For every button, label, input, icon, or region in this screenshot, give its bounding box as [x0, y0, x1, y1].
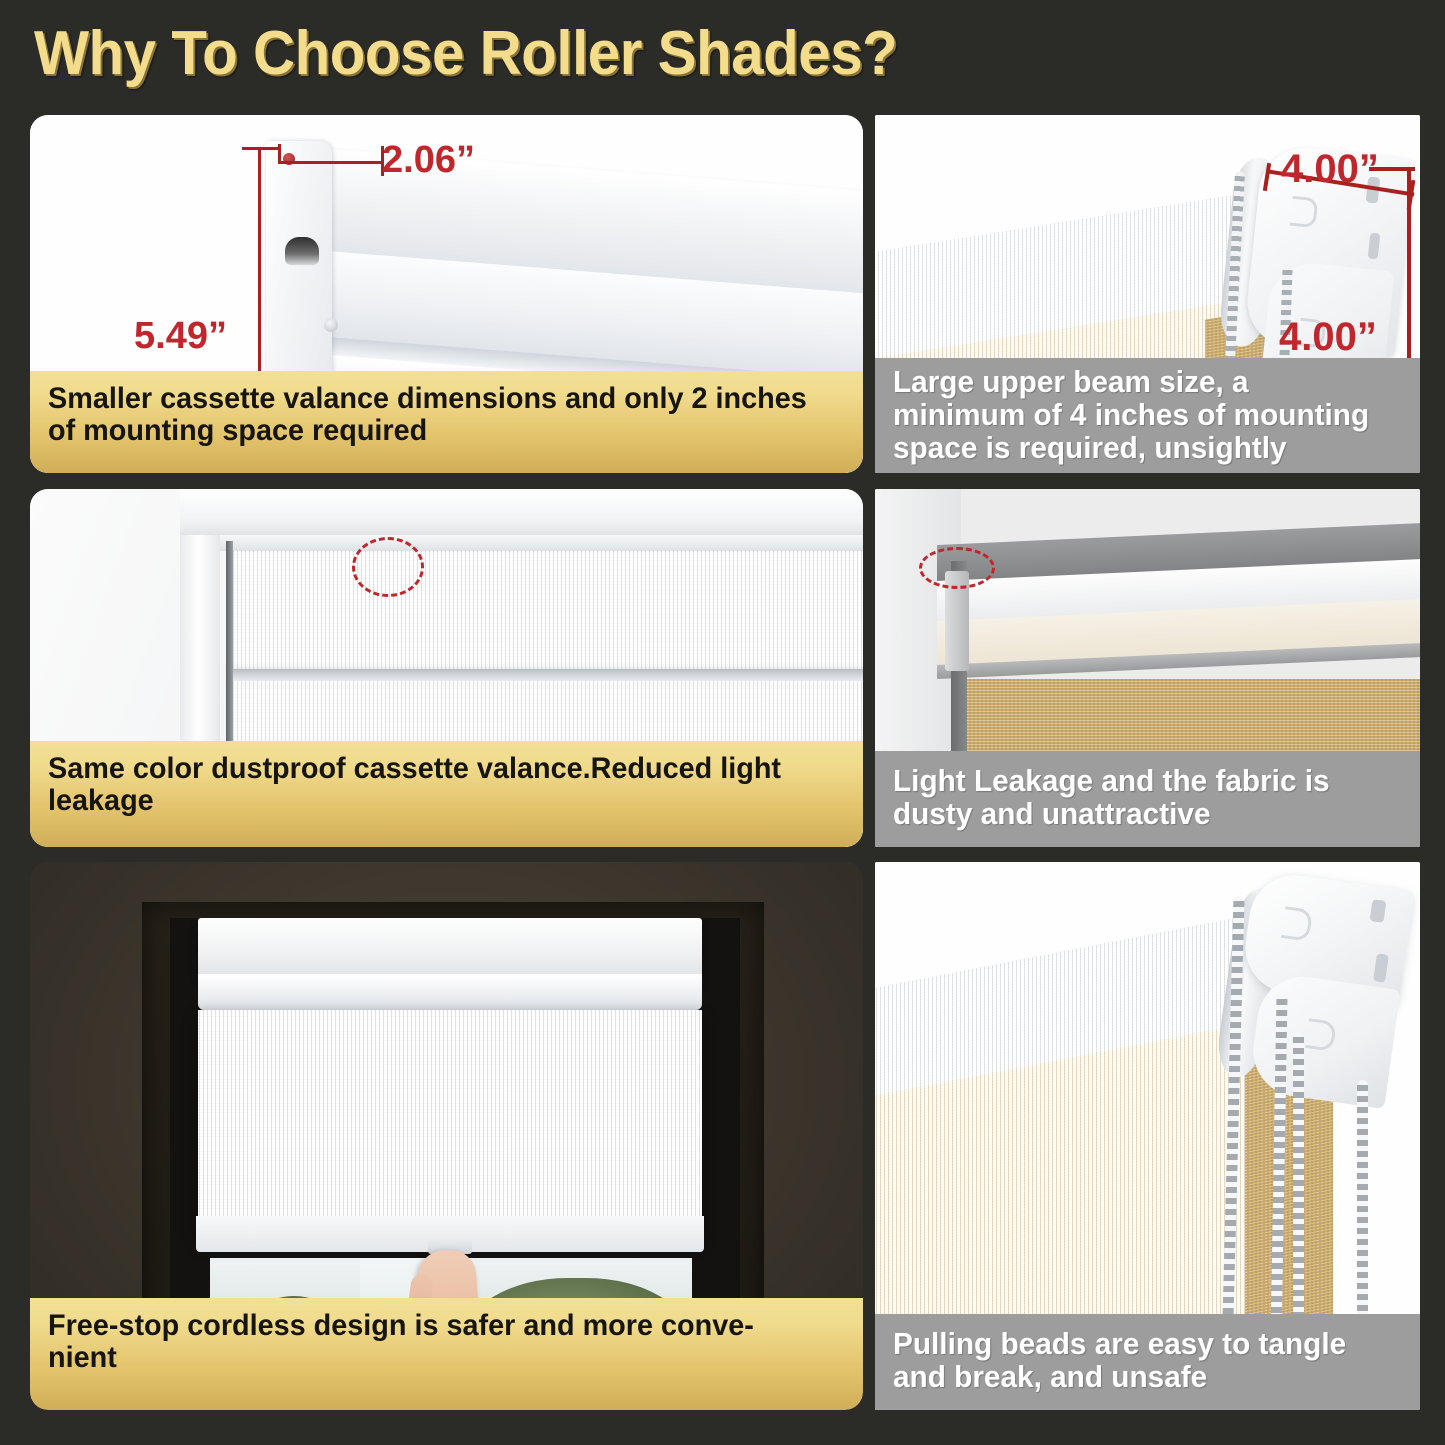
- panel-middle-left: smaller gap Same color dustproof cassett…: [30, 489, 863, 847]
- panel-middle-right: Large gap Light Leakage and the fabric i…: [875, 489, 1420, 847]
- highlight-circle: [919, 547, 995, 589]
- top-right-height-label: 4.00”: [1279, 315, 1377, 360]
- end-cap-slot-icon: [285, 237, 319, 265]
- infographic-root: Why To Choose Roller Shades? 2.06”: [0, 0, 1445, 1445]
- panel-bottom-left: Free-stop cordless design is safer and m…: [30, 862, 863, 1410]
- cassette-valance-face: [232, 551, 863, 671]
- panel-top-left: 2.06” 5.49” Smaller cassette valance dim…: [30, 115, 863, 473]
- panel-bottom-right: Pulling beads are easy to tangle and bre…: [875, 862, 1420, 1410]
- caption-bottom-left-text: Free-stop cordless design is safer and m…: [48, 1310, 815, 1374]
- caption-bottom-right: Pulling beads are easy to tangle and bre…: [875, 1314, 1420, 1410]
- window-frame-head: [180, 489, 863, 535]
- valance-roll-band: [198, 974, 702, 1010]
- valance-headrail: [198, 918, 702, 980]
- width-dim-line: [278, 161, 384, 164]
- height-dim-tick-top: [242, 147, 280, 150]
- caption-top-right-text: Large upper beam size, a minimum of 4 in…: [893, 366, 1384, 465]
- caption-top-left: Smaller cassette valance dimensions and …: [30, 371, 863, 473]
- top-right-height-tick-top: [1369, 167, 1415, 171]
- page-title: Why To Choose Roller Shades?: [34, 18, 897, 89]
- caption-middle-left-text: Same color dustproof cassette valance.Re…: [48, 753, 815, 817]
- caption-bottom-left: Free-stop cordless design is safer and m…: [30, 1298, 863, 1410]
- top-right-width-label: 4.00”: [1281, 147, 1379, 192]
- caption-middle-left: Same color dustproof cassette valance.Re…: [30, 741, 863, 847]
- caption-top-left-text: Smaller cassette valance dimensions and …: [48, 383, 815, 447]
- caption-bottom-right-text: Pulling beads are easy to tangle and bre…: [893, 1328, 1384, 1394]
- panel-top-right: 4.00” 4.00” Large upper beam size, a min…: [875, 115, 1420, 473]
- valance-bottom-edge: [230, 669, 863, 681]
- highlight-circle: [352, 537, 424, 597]
- caption-top-right: Large upper beam size, a minimum of 4 in…: [875, 358, 1420, 473]
- shade-fabric: [198, 1010, 702, 1238]
- caption-middle-right: Light Leakage and the fabric is dusty an…: [875, 751, 1420, 847]
- width-dim-label: 2.06”: [382, 139, 475, 182]
- caption-middle-right-text: Light Leakage and the fabric is dusty an…: [893, 765, 1384, 831]
- height-dim-label: 5.49”: [134, 315, 227, 358]
- window-frame-inner-edge: [220, 535, 863, 551]
- end-cap-screw-icon: [324, 318, 338, 332]
